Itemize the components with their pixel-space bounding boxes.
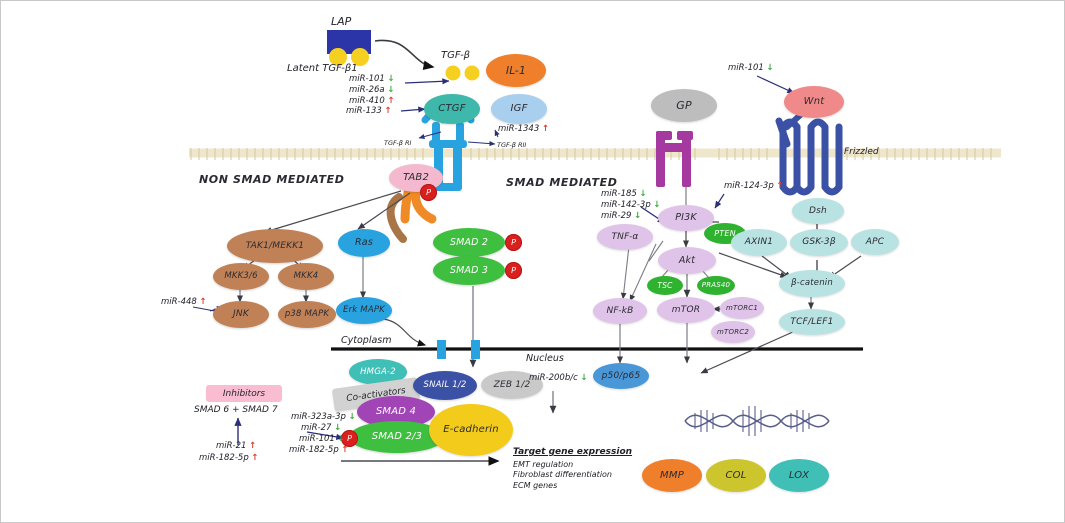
node-smad3[interactable]: SMAD 3 bbox=[433, 256, 505, 285]
mirna-mir-142-3p: miR-142-3p ↓ bbox=[601, 200, 661, 210]
mirna-mir-323a-3p: miR-323a-3p ↓ bbox=[291, 412, 356, 422]
mirna-mir-410: miR-410 ↑ bbox=[349, 96, 395, 106]
phospho-tab2: P bbox=[420, 184, 437, 201]
node-wnt[interactable]: Wnt bbox=[784, 86, 844, 118]
node-pi3k[interactable]: PI3K bbox=[658, 205, 714, 231]
node-dsh[interactable]: Dsh bbox=[792, 198, 844, 224]
mirna-mir-101-b: miR-101 ↓ bbox=[728, 63, 774, 73]
mirna-mir-21: miR-21 ↑ bbox=[216, 441, 256, 451]
target-item-emt: EMT regulation bbox=[513, 460, 632, 471]
node-mtor[interactable]: mTOR bbox=[657, 297, 715, 323]
node-e-cadherin[interactable]: E-cadherin bbox=[429, 404, 513, 456]
cytoplasm-label: Cytoplasm bbox=[341, 335, 392, 346]
node-tnf-alpha[interactable]: TNF-α bbox=[597, 224, 653, 250]
node-ctgf[interactable]: CTGF bbox=[424, 94, 480, 124]
node-jnk[interactable]: JNK bbox=[213, 301, 269, 328]
target-heading: Target gene expression bbox=[513, 447, 632, 457]
phospho-smad2: P bbox=[505, 234, 522, 251]
node-tak1-mekk1[interactable]: TAK1/MEKK1 bbox=[227, 229, 323, 263]
tgfb-label: TGF-β bbox=[441, 50, 470, 61]
nuclear-envelope bbox=[331, 340, 863, 359]
inhibitors-list: SMAD 6 + SMAD 7 bbox=[194, 405, 278, 415]
node-gsk3b[interactable]: GSK-3β bbox=[790, 229, 848, 256]
node-ras[interactable]: Ras bbox=[338, 229, 390, 257]
node-lox[interactable]: LOX bbox=[769, 459, 829, 492]
node-gp[interactable]: GP bbox=[651, 89, 717, 122]
node-igf[interactable]: IGF bbox=[491, 94, 547, 124]
gp-receptor-icon bbox=[656, 131, 693, 187]
dna-helix-icon bbox=[685, 406, 829, 436]
node-axin1[interactable]: AXIN1 bbox=[731, 229, 787, 256]
mirna-mir-448: miR-448 ↑ bbox=[161, 297, 207, 307]
mirna-mir-200bc: miR-200b/c ↓ bbox=[529, 373, 588, 383]
mirna-mir-133: miR-133 ↑ bbox=[346, 106, 392, 116]
section-smad: SMAD MEDIATED bbox=[506, 176, 617, 189]
node-apc[interactable]: APC bbox=[851, 229, 899, 255]
lap-label: LAP bbox=[331, 15, 351, 28]
target-item-ecm: ECM genes bbox=[513, 481, 632, 492]
target-item-fibroblast: Fibroblast differentiation bbox=[513, 470, 632, 481]
node-p38-mapk[interactable]: p38 MAPK bbox=[278, 301, 336, 328]
mirna-mir-29: miR-29 ↓ bbox=[601, 211, 641, 221]
node-il1[interactable]: IL-1 bbox=[486, 54, 546, 87]
node-tsc[interactable]: TSC bbox=[647, 276, 683, 295]
node-tcf-lef1[interactable]: TCF/LEF1 bbox=[779, 309, 845, 335]
lap-complex-icon bbox=[327, 30, 371, 66]
node-beta-catenin[interactable]: β-catenin bbox=[779, 270, 845, 297]
mirna-mir-185: miR-185 ↓ bbox=[601, 189, 647, 199]
node-smad2[interactable]: SMAD 2 bbox=[433, 228, 505, 257]
mirna-mir-124-3p: miR-124-3p ↑ bbox=[724, 181, 784, 191]
inhibitors-box[interactable]: Inhibitors bbox=[206, 385, 282, 402]
target-gene-expression: Target gene expression EMT regulation Fi… bbox=[513, 438, 632, 492]
node-mmp[interactable]: MMP bbox=[642, 459, 702, 492]
mirna-mir-182-5p-b: miR-182-5p ↑ bbox=[199, 453, 259, 463]
node-nfkb[interactable]: NF-kB bbox=[593, 298, 647, 324]
mirna-mir-1343: miR-1343 ↑ bbox=[498, 124, 549, 134]
node-mtorc1[interactable]: mTORC1 bbox=[720, 297, 764, 319]
node-col[interactable]: COL bbox=[706, 459, 766, 492]
node-p50-p65[interactable]: p50/p65 bbox=[593, 363, 649, 389]
node-pras40[interactable]: PRAS40 bbox=[697, 276, 735, 295]
node-mtorc2[interactable]: mTORC2 bbox=[711, 321, 755, 343]
node-erk-mapk[interactable]: Erk MAPK bbox=[336, 297, 392, 324]
latent-tgfb1-label: Latent TGF-β1 bbox=[287, 63, 358, 74]
node-akt[interactable]: Akt bbox=[658, 247, 716, 274]
mirna-mir-182-5p-a: miR-182-5p ↑ bbox=[289, 445, 349, 455]
node-mkk36[interactable]: MKK3/6 bbox=[213, 263, 269, 290]
node-snail[interactable]: SNAIL 1/2 bbox=[413, 371, 477, 400]
tgfb-rii-label: TGF-β RII bbox=[497, 141, 526, 149]
mirna-mir-27: miR-27 ↓ bbox=[301, 423, 341, 433]
node-mkk4[interactable]: MKK4 bbox=[278, 263, 334, 290]
free-tgfb-dimer-icon bbox=[446, 66, 480, 81]
plasma-membrane bbox=[189, 148, 1001, 160]
mirna-mir-101-a: miR-101 ↓ bbox=[349, 74, 395, 84]
frizzled-label: Frizzled bbox=[844, 147, 879, 157]
nucleus-label: Nucleus bbox=[526, 353, 564, 364]
phospho-smad3: P bbox=[505, 262, 522, 279]
figure-canvas: LAP Latent TGF-β1 TGF-β IL-1 CTGF IGF mi… bbox=[0, 0, 1065, 523]
tgfb-ri-label: TGF-β RI bbox=[384, 139, 411, 147]
section-non-smad: NON SMAD MEDIATED bbox=[199, 173, 344, 186]
mirna-mir-26a: miR-26a ↓ bbox=[349, 85, 394, 95]
mirna-mir-101-c: miR-101 ↓ bbox=[299, 434, 345, 444]
